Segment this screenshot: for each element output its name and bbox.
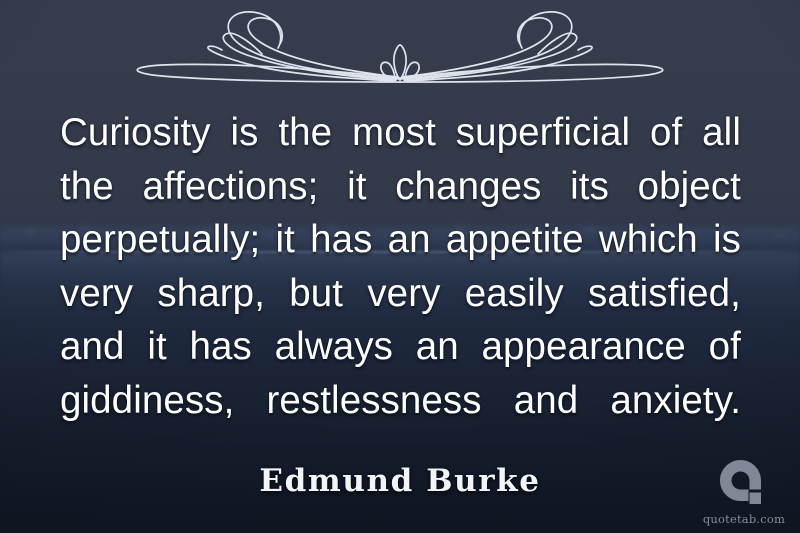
quote-word: most xyxy=(352,106,436,160)
quote-word: all xyxy=(702,106,741,160)
quote-word: has xyxy=(310,213,372,267)
quote-word: very xyxy=(60,267,133,321)
quote-word: which xyxy=(599,213,698,267)
quote-word: has xyxy=(190,320,252,374)
quote-word: it xyxy=(147,320,166,374)
site-logo[interactable]: quotetab.com xyxy=(702,449,786,525)
quote-line-1: Curiosity is the most superficial of all xyxy=(60,106,741,160)
quote-word: object xyxy=(638,160,741,214)
quote-word: an xyxy=(388,213,431,267)
logo-text: quotetab.com xyxy=(703,513,785,525)
quote-line-5: and it has always an appearance of xyxy=(60,320,741,374)
quote-image-card: Curiosity is the most superficial of all… xyxy=(0,0,800,533)
quote-word: the xyxy=(60,160,114,214)
quote-word: superficial xyxy=(456,106,630,160)
quote-word: it xyxy=(275,213,294,267)
quote-word: is xyxy=(231,106,259,160)
quote-word: perpetually; xyxy=(60,213,260,267)
quote-word: Curiosity xyxy=(60,106,211,160)
quote-word: changes xyxy=(395,160,541,214)
quote-word: of xyxy=(709,320,741,374)
quote-word: easily xyxy=(465,267,564,321)
quotetab-q-icon xyxy=(718,458,770,510)
quote-word: and xyxy=(514,374,579,428)
quote-word: but xyxy=(289,267,343,321)
quote-line-2: the affections; it changes its object xyxy=(60,160,741,214)
quote-word: appetite xyxy=(446,213,584,267)
quote-word: is xyxy=(713,213,741,267)
quote-word: anxiety. xyxy=(610,374,741,428)
quote-word: satisfied, xyxy=(588,267,741,321)
quote-line-6: giddiness, restlessness and anxiety. xyxy=(60,374,741,428)
quote-word: an xyxy=(416,320,459,374)
quote-word: its xyxy=(570,160,609,214)
quote-word: appearance xyxy=(482,320,686,374)
quote-word: affections; xyxy=(143,160,319,214)
quote-word: sharp, xyxy=(157,267,265,321)
quote-word: always xyxy=(275,320,393,374)
quote-word: very xyxy=(367,267,440,321)
quote-word: giddiness, xyxy=(60,374,234,428)
quote-word: it xyxy=(347,160,366,214)
quote-author: Edmund Burke xyxy=(0,463,800,499)
quote-word: and xyxy=(60,320,125,374)
quote-text: Curiosity is the most superficial of all… xyxy=(60,106,741,427)
quote-line-4: very sharp, but very easily satisfied, xyxy=(60,267,741,321)
quote-word: the xyxy=(278,106,332,160)
quote-word: of xyxy=(650,106,682,160)
quote-word: restlessness xyxy=(266,374,481,428)
quote-line-3: perpetually; it has an appetite which is xyxy=(60,213,741,267)
